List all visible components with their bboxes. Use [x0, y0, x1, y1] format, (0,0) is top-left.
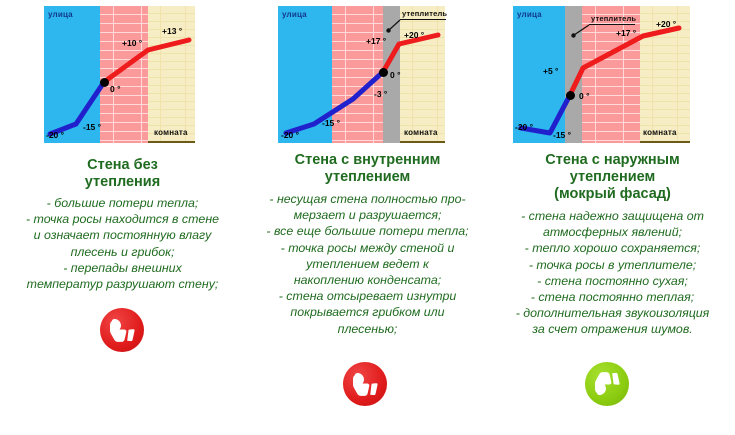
temp-label-dew-point: 0 °: [390, 70, 401, 80]
heading-internal-insulation: Стена с внутренним утеплением: [249, 152, 486, 186]
infographic-board: улица комната -20 ° -15 ° 0 ° +10 ° +13 …: [0, 0, 735, 435]
verdict-badge-thumbs-up: [585, 362, 629, 406]
bullet-item: - стена отсыревает изнутри: [247, 288, 488, 304]
bullet-item: - тепло хорошо сохраняется;: [492, 240, 733, 256]
temp-label-outside: -20 °: [46, 130, 64, 140]
heading-line: Стена с внутренним: [249, 152, 486, 169]
temp-label-insulation-outer: -15 °: [553, 130, 571, 140]
heading-line: Стена без: [4, 157, 241, 174]
temperature-curve: [278, 6, 445, 143]
diagram-external-insulation: улица комната утеплитель -20 ° -15 ° 0 °…: [513, 6, 690, 143]
bullets-external-insulation: - стена надежно защищена от атмосферных …: [492, 208, 733, 338]
temp-label-dew-point: 0 °: [110, 84, 121, 94]
temp-label-outside: -20 °: [281, 130, 299, 140]
bullet-item: - несущая стена полностью про-: [247, 191, 488, 207]
heading-line: (мокрый фасад): [494, 186, 731, 203]
bullet-item: плесень и грибок;: [2, 244, 243, 260]
temp-label-room: +13 °: [162, 26, 182, 36]
verdict-badge-thumbs-down: [343, 362, 387, 406]
column-external-insulation: улица комната утеплитель -20 ° -15 ° 0 °…: [490, 0, 735, 435]
bullet-item: за счет отражения шумов.: [492, 321, 733, 337]
temp-label-insulation-inner: +17 °: [366, 36, 386, 46]
thumbs-down-icon: [343, 362, 387, 406]
bullet-item: плесенью;: [247, 321, 488, 337]
bullet-item: - стена постоянно сухая;: [492, 273, 733, 289]
diagram-internal-insulation: улица комната утеплитель -20 ° -15 ° -3 …: [278, 6, 445, 143]
bullet-item: - перепады внешних: [2, 260, 243, 276]
heading-line: Стена с наружным: [494, 152, 731, 169]
bullet-item: утеплением ведет к: [247, 256, 488, 272]
bullet-item: - точка росы находится в стене: [2, 211, 243, 227]
bullet-item: мерзает и разрушается;: [247, 207, 488, 223]
temp-label-wall-inner: +10 °: [122, 38, 142, 48]
bullet-item: - большие потери тепла;: [2, 195, 243, 211]
temp-label-outside: -20 °: [515, 122, 533, 132]
bullet-item: накоплению конденсата;: [247, 272, 488, 288]
column-no-insulation: улица комната -20 ° -15 ° 0 ° +10 ° +13 …: [0, 0, 245, 435]
column-internal-insulation: улица комната утеплитель -20 ° -15 ° -3 …: [245, 0, 490, 435]
heading-line: утеплением: [494, 169, 731, 186]
temp-label-wall-insulation: -3 °: [374, 89, 387, 99]
heading-external-insulation: Стена с наружным утеплением (мокрый фаса…: [494, 152, 731, 203]
temp-label-wall-outer: -15 °: [322, 118, 340, 128]
bullets-internal-insulation: - несущая стена полностью про- мерзает и…: [247, 191, 488, 337]
bullet-item: атмосферных явлений;: [492, 224, 733, 240]
heading-line: утепления: [4, 174, 241, 191]
diagram-no-insulation: улица комната -20 ° -15 ° 0 ° +10 ° +13 …: [44, 6, 195, 143]
dew-point-dot: [100, 78, 109, 87]
temp-label-wall-outer: -15 °: [83, 122, 101, 132]
thumbs-down-icon: [100, 308, 144, 352]
bullet-item: и означает постоянную влагу: [2, 227, 243, 243]
temp-label-room: +20 °: [404, 30, 424, 40]
bullet-item: - все еще большие потери тепла;: [247, 223, 488, 239]
temp-label-room: +20 °: [656, 19, 676, 29]
bullet-item: - стена постоянно теплая;: [492, 289, 733, 305]
verdict-badge-thumbs-down: [100, 308, 144, 352]
bullet-item: - точка росы между стеной и: [247, 240, 488, 256]
bullet-item: покрывается грибком или: [247, 304, 488, 320]
dew-point-dot: [566, 91, 575, 100]
bullet-item: температур разрушают стену;: [2, 276, 243, 292]
temp-label-wall-inner: +17 °: [616, 28, 636, 38]
bullet-item: - дополнительная звукоизоляция: [492, 305, 733, 321]
temp-label-wall-outer: +5 °: [543, 66, 558, 76]
bullets-no-insulation: - большие потери тепла; - точка росы нах…: [2, 195, 243, 292]
temp-label-dew-point: 0 °: [579, 91, 590, 101]
dew-point-dot: [379, 68, 388, 77]
thumbs-up-icon: [585, 362, 629, 406]
heading-line: утеплением: [249, 169, 486, 186]
bullet-item: - точка росы в утеплителе;: [492, 257, 733, 273]
bullet-item: - стена надежно защищена от: [492, 208, 733, 224]
heading-no-insulation: Стена без утепления: [4, 157, 241, 191]
